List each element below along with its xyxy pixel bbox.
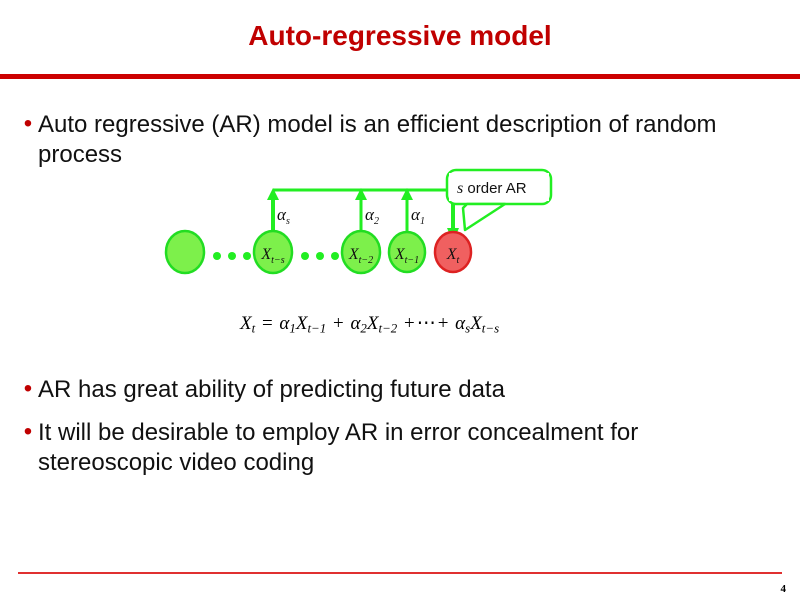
- callout-text: s order AR: [457, 180, 527, 197]
- coef-alpha-2: α2: [365, 205, 379, 227]
- slide-canvas: Auto-regressive model • Auto regressive …: [0, 0, 800, 599]
- bullet-marker-icon: •: [18, 110, 38, 138]
- footer-divider: [18, 572, 782, 574]
- page-title: Auto-regressive model: [0, 20, 800, 52]
- node-t-minus-2: Xt−2: [342, 231, 380, 273]
- node-unlabeled: [166, 231, 204, 273]
- bullet-marker-icon: •: [18, 418, 38, 446]
- bullet-text-1: Auto regressive (AR) model is an efficie…: [38, 110, 758, 170]
- ellipsis-left: [213, 252, 251, 260]
- bullet-item-1: • Auto regressive (AR) model is an effic…: [18, 110, 758, 170]
- callout-s-order-ar: s order AR: [447, 170, 551, 230]
- page-number: 4: [781, 583, 787, 595]
- ar-model-diagram: Xt−s Xt−2 Xt−1 Xt αs α2 α1: [155, 168, 575, 278]
- ar-equation: Xt = α1Xt−1 + α2Xt−2 +⋯+ αsXt−s: [240, 312, 499, 337]
- ellipsis-mid: [301, 252, 339, 260]
- node-t-minus-1: Xt−1: [389, 232, 425, 272]
- bullet-text-2: AR has great ability of predicting futur…: [38, 375, 505, 405]
- title-divider: [0, 74, 800, 79]
- node-t: Xt: [435, 232, 471, 272]
- bullet-item-2: • AR has great ability of predicting fut…: [18, 375, 758, 405]
- node-t-minus-s: Xt−s: [254, 231, 292, 273]
- bullet-item-3: • It will be desirable to employ AR in e…: [18, 418, 758, 478]
- bullet-text-3: It will be desirable to employ AR in err…: [38, 418, 758, 478]
- bullet-marker-icon: •: [18, 375, 38, 403]
- coef-alpha-1: α1: [411, 205, 425, 227]
- coef-alpha-s: αs: [277, 205, 290, 227]
